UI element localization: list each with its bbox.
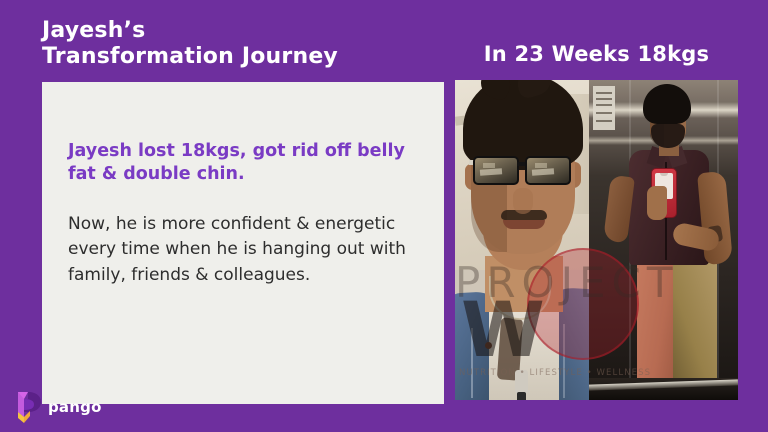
before-mouth xyxy=(503,220,545,229)
after-trousers-left-leg xyxy=(637,258,677,386)
card-body-text: Now, he is more confident & energetic ev… xyxy=(64,212,422,287)
before-jacket-seam-right xyxy=(563,324,565,398)
after-notice-line-1 xyxy=(596,92,612,94)
before-lanyard-clip xyxy=(517,392,526,400)
before-sunglasses-lens-right xyxy=(525,156,571,185)
slide-root: Jayesh’s Transformation Journey In 23 We… xyxy=(0,0,768,432)
before-lanyard-card xyxy=(515,370,528,394)
before-after-photo-pair: PROJECT W NUTRITION • LIFESTYLE • WELLNE… xyxy=(455,80,738,400)
before-jacket-button xyxy=(485,342,492,349)
before-jacket-seam-left xyxy=(471,328,473,398)
after-notice-line-3 xyxy=(596,104,612,106)
before-sunglasses-lens-left xyxy=(473,156,519,185)
testimonial-card: Jayesh lost 18kgs, got rid off belly fat… xyxy=(42,82,444,404)
before-lens-glint-upper xyxy=(483,163,495,168)
pango-logo[interactable]: pango xyxy=(14,390,102,424)
after-hair xyxy=(643,84,691,124)
before-lens-glint-left xyxy=(480,168,502,176)
pango-logo-icon xyxy=(14,390,44,424)
before-sunglasses xyxy=(469,154,579,188)
after-notice-line-5 xyxy=(596,120,612,122)
title-line-2: Transformation Journey xyxy=(42,44,442,70)
before-photo xyxy=(455,80,589,400)
before-lens-glint-right xyxy=(532,168,554,176)
before-lens-glint-upper-right xyxy=(535,163,547,168)
after-photo xyxy=(589,80,738,400)
card-heading: Jayesh lost 18kgs, got rid off belly fat… xyxy=(64,140,422,186)
after-notice-line-4 xyxy=(596,112,612,114)
page-title: Jayesh’s Transformation Journey xyxy=(42,18,442,69)
title-line-1: Jayesh’s xyxy=(42,18,442,44)
after-elevator-notice xyxy=(593,86,615,130)
after-notice-line-2 xyxy=(596,98,612,100)
after-trousers-right-leg xyxy=(673,256,717,388)
pango-logo-text: pango xyxy=(48,398,102,416)
before-nose xyxy=(513,188,533,214)
result-heading: In 23 Weeks 18kgs xyxy=(455,42,738,66)
after-hand-holding-phone xyxy=(647,186,667,220)
